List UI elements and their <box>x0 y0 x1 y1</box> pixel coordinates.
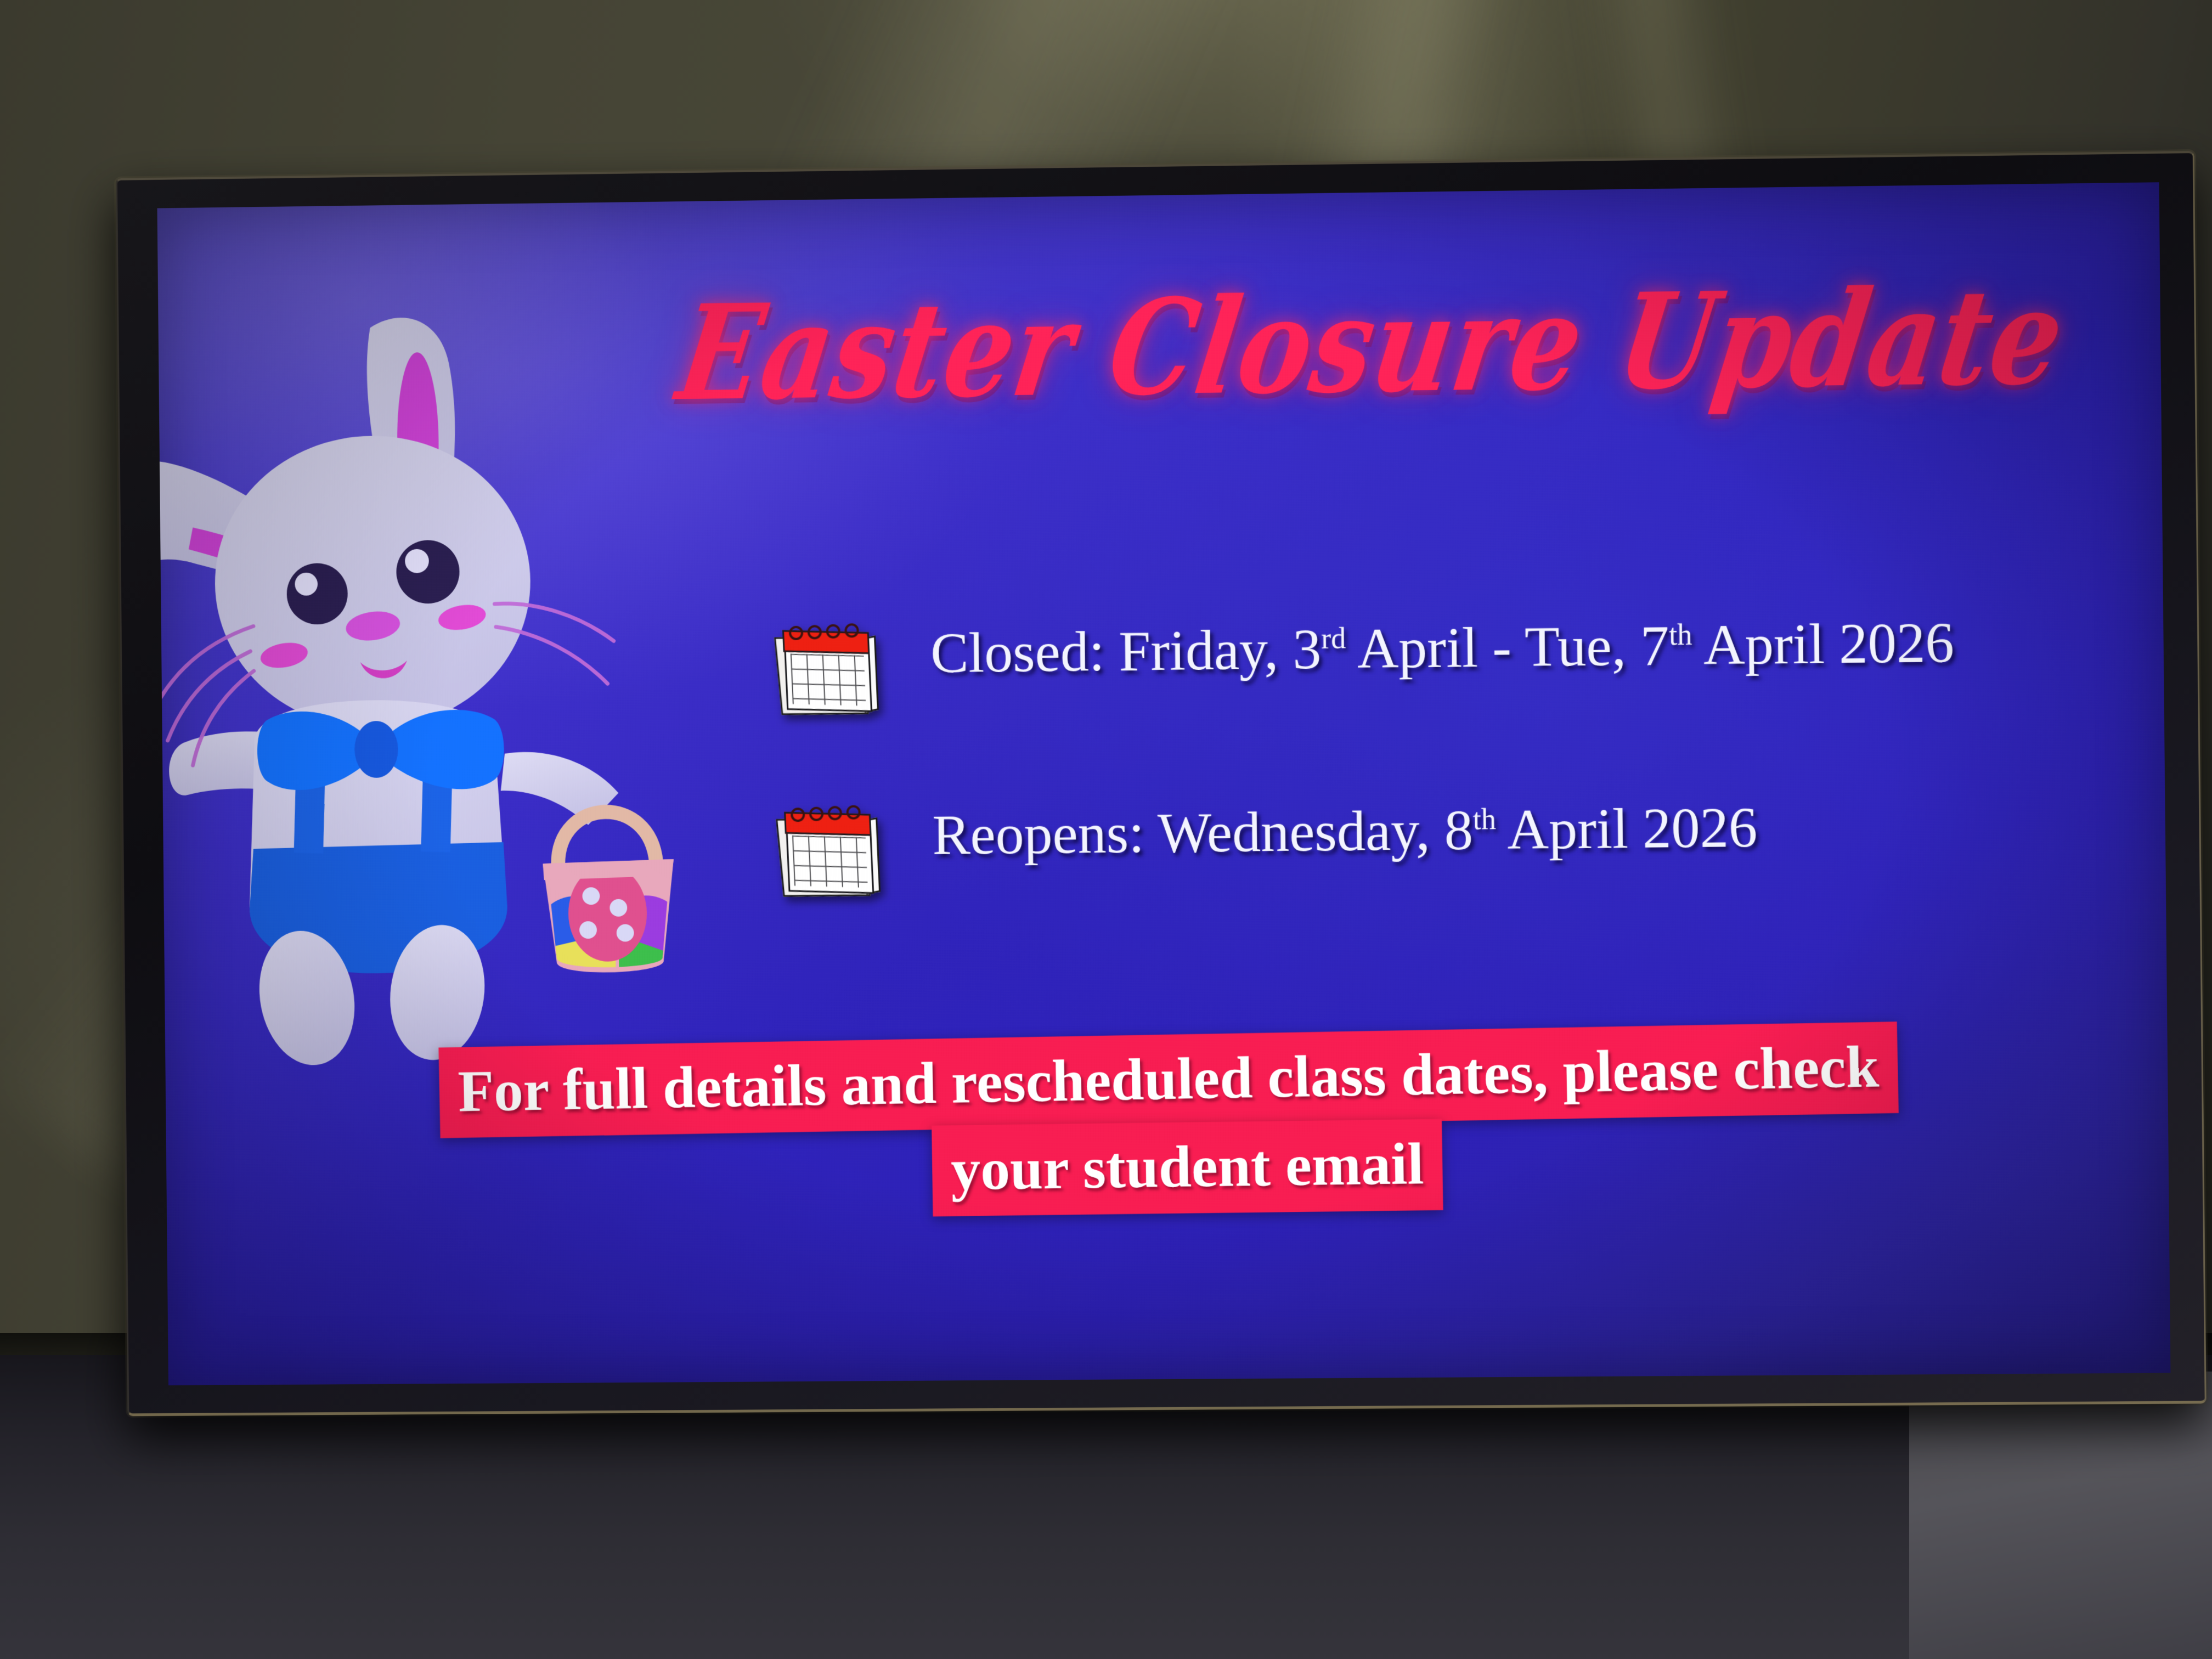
banner-line-two: your student email <box>932 1119 1443 1217</box>
closure-ordinal-first: rd <box>1321 622 1346 656</box>
list-item: Reopens: Wednesday, 8th April 2026 <box>778 791 2111 903</box>
tv-screen: Easter Closure Update Closed: Friday, 3r… <box>157 182 2171 1385</box>
calendar-icon <box>775 625 883 723</box>
banner-line-one: For full details and rescheduled class d… <box>439 1022 1899 1138</box>
television: Easter Closure Update Closed: Friday, 3r… <box>116 151 2207 1416</box>
bullet-list: Closed: Friday, 3rd April - Tue, 7th Apr… <box>776 608 2112 985</box>
photo-scene: Easter Closure Update Closed: Friday, 3r… <box>0 0 2212 1659</box>
closure-suffix: April 2026 <box>1692 611 1954 677</box>
reopen-suffix: April 2026 <box>1496 796 1758 862</box>
wall-lower-right-panel <box>1909 1372 2212 1659</box>
reopen-prefix: Reopens: Wednesday, 8 <box>932 798 1474 866</box>
status-banner: For full details and rescheduled class d… <box>328 1028 2041 1220</box>
closure-dates-text: Closed: Friday, 3rd April - Tue, 7th Apr… <box>930 610 1955 687</box>
calendar-icon <box>776 807 884 905</box>
closure-ordinal-second: th <box>1669 618 1692 652</box>
reopen-ordinal: th <box>1472 803 1496 836</box>
closure-middle: April - Tue, 7 <box>1346 614 1669 680</box>
page-title: Easter Closure Update <box>671 271 2065 419</box>
list-item: Closed: Friday, 3rd April - Tue, 7th Apr… <box>776 608 2109 721</box>
closure-prefix: Closed: Friday, 3 <box>930 618 1322 685</box>
reopen-date-text: Reopens: Wednesday, 8th April 2026 <box>932 794 1758 870</box>
